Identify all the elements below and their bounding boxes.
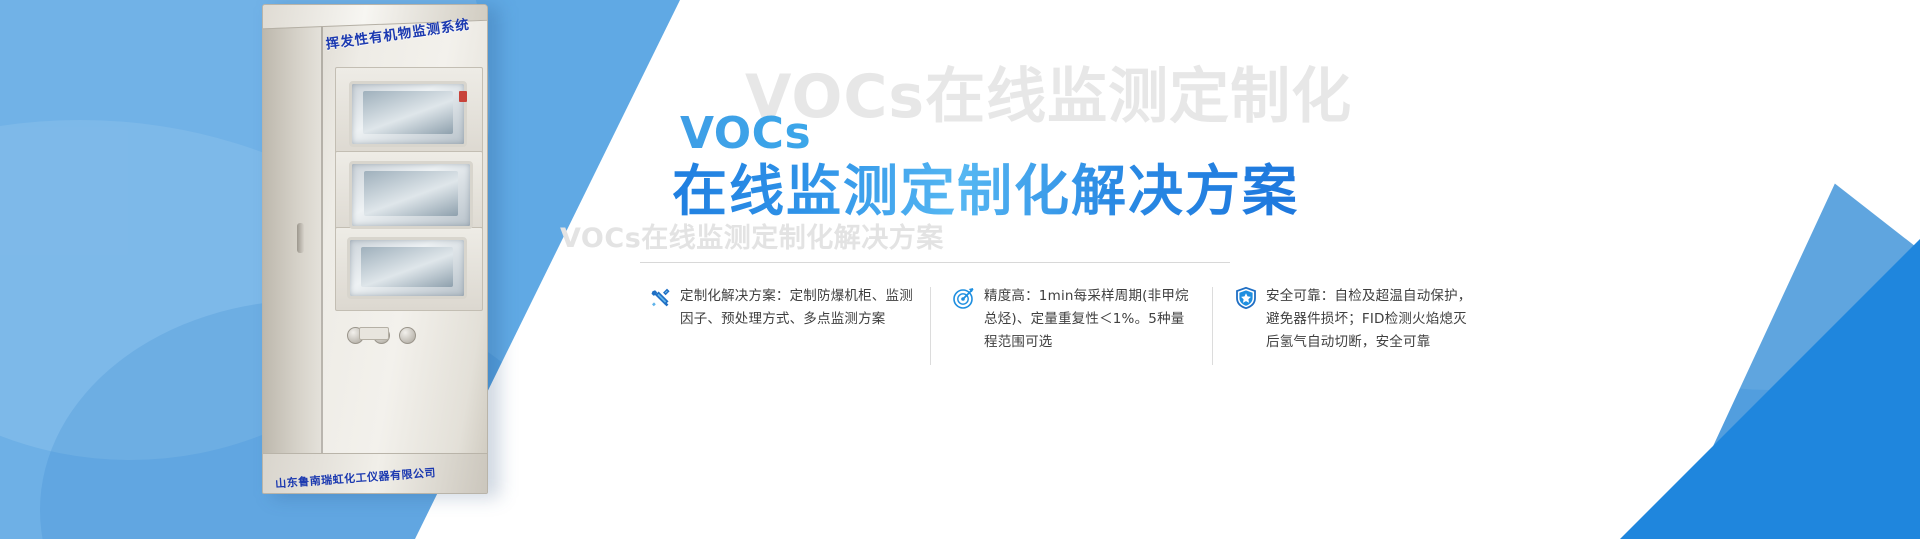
display-glass — [361, 247, 452, 287]
headline-chinese: 在线监测定制化解决方案 — [672, 162, 1299, 220]
target-arrow-icon — [952, 286, 976, 310]
status-indicator — [459, 91, 467, 102]
headline-divider — [640, 262, 1230, 263]
headline-english: VOCs — [680, 112, 1299, 156]
shield-star-icon — [1234, 286, 1258, 310]
feature-list: 定制化解决方案：定制防爆机柜、监测因子、预处理方式、多点监测方案 精度高：1mi… — [648, 285, 1494, 355]
display-glass — [364, 171, 458, 216]
feature-item: 安全可靠：自检及超温自动保护，避免器件损坏；FID检测火焰熄灭后氢气自动切断，安… — [1212, 285, 1494, 355]
cabinet-nameplate — [359, 327, 389, 340]
feature-text: 精度高：1min每采样周期(非甲烷总烃)、定量重复性＜1%。5种量程范围可选 — [984, 285, 1198, 355]
company-name-text: 山东鲁南瑞虹化工仪器有限公司 — [275, 461, 488, 492]
cabinet-seam — [321, 23, 323, 493]
feature-item: 定制化解决方案：定制防爆机柜、监测因子、预处理方式、多点监测方案 — [648, 285, 930, 355]
headline-block: VOCs 在线监测定制化解决方案 — [672, 112, 1299, 220]
feature-text: 定制化解决方案：定制防爆机柜、监测因子、预处理方式、多点监测方案 — [680, 285, 916, 331]
wrench-screwdriver-icon — [648, 286, 672, 310]
feature-text: 安全可靠：自检及超温自动保护，避免器件损坏；FID检测火焰熄灭后氢气自动切断，安… — [1266, 285, 1480, 355]
monitoring-cabinet: 挥发性有机物监测系统 山东鲁南瑞虹化工仪器有限公司 — [262, 4, 488, 494]
display-glass — [363, 91, 453, 134]
instrument-display — [349, 81, 467, 147]
promo-banner: 挥发性有机物监测系统 山东鲁南瑞虹化工仪器有限公司 — [0, 0, 1920, 539]
product-photo: 挥发性有机物监测系统 山东鲁南瑞虹化工仪器有限公司 — [262, 0, 502, 500]
instrument-display — [347, 237, 467, 299]
feature-item: 精度高：1min每采样周期(非甲烷总烃)、定量重复性＜1%。5种量程范围可选 — [930, 285, 1212, 355]
control-knob — [399, 327, 416, 344]
instrument-display — [349, 161, 473, 229]
cabinet-base: 山东鲁南瑞虹化工仪器有限公司 — [262, 453, 488, 493]
cabinet-door-handle — [297, 223, 304, 253]
cabinet-side-panel — [263, 11, 321, 494]
